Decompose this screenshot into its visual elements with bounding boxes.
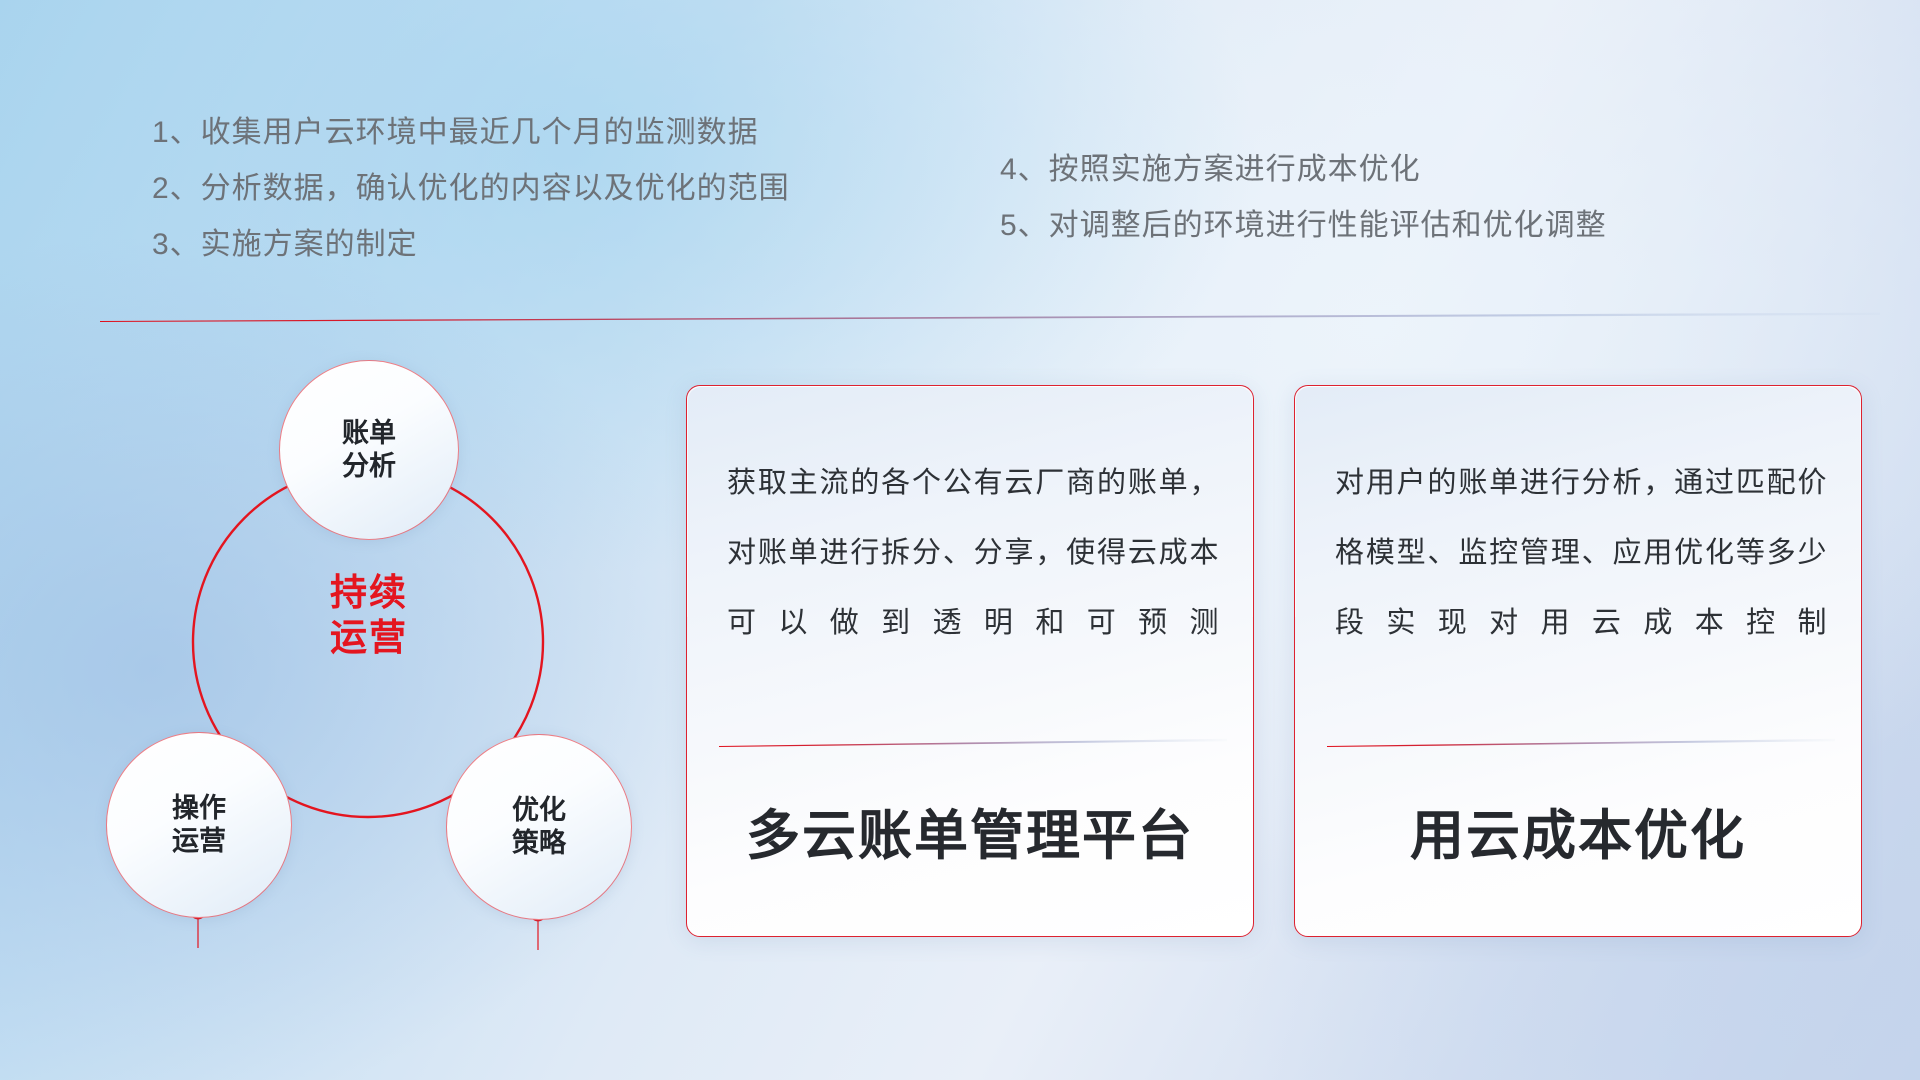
steps-right-column: 4、按照实施方案进行成本优化 5、对调整后的环境进行性能评估和优化调整: [1000, 155, 1607, 241]
card-1-rule: [719, 738, 1225, 747]
step-item-1: 1、收集用户云环境中最近几个月的监测数据: [152, 118, 790, 148]
diagram-node-optimization-strategy-line2: 策略: [512, 827, 566, 860]
card-2-title: 用云成本优化: [1295, 791, 1861, 870]
diagram-node-optimization-strategy[interactable]: 优化 策略: [446, 734, 632, 920]
diagram-node-operations-line1: 操作: [172, 792, 226, 825]
card-1-body: 获取主流的各个公有云厂商的账单，对账单进行拆分、分享，使得云成本可以做到透明和可…: [727, 448, 1219, 659]
diagram-node-operations-line2: 运营: [172, 825, 226, 858]
step-item-4: 4、按照实施方案进行成本优化: [1000, 155, 1607, 185]
slide-canvas: 1、收集用户云环境中最近几个月的监测数据 2、分析数据，确认优化的内容以及优化的…: [0, 0, 1920, 1080]
diagram-center-line2: 运营: [279, 615, 459, 660]
continuous-operation-diagram: 账单 分析 操作 运营 优化 策略 持续 运营: [96, 352, 656, 952]
card-1-title: 多云账单管理平台: [687, 791, 1253, 870]
card-2-rule: [1327, 738, 1833, 747]
step-item-2: 2、分析数据，确认优化的内容以及优化的范围: [152, 174, 790, 204]
section-divider: [100, 312, 1880, 322]
step-item-5: 5、对调整后的环境进行性能评估和优化调整: [1000, 211, 1607, 241]
diagram-center-label: 持续 运营: [279, 570, 459, 660]
card-multicloud-billing-platform[interactable]: 获取主流的各个公有云厂商的账单，对账单进行拆分、分享，使得云成本可以做到透明和可…: [686, 385, 1254, 937]
diagram-node-operations[interactable]: 操作 运营: [106, 732, 292, 918]
diagram-node-bill-analysis-line2: 分析: [342, 450, 396, 483]
diagram-node-bill-analysis[interactable]: 账单 分析: [279, 360, 459, 540]
diagram-node-bill-analysis-line1: 账单: [342, 417, 396, 450]
diagram-center-line1: 持续: [279, 570, 459, 615]
card-cloud-cost-optimization[interactable]: 对用户的账单进行分析，通过匹配价格模型、监控管理、应用优化等多少段实现对用云成本…: [1294, 385, 1862, 937]
card-2-body: 对用户的账单进行分析，通过匹配价格模型、监控管理、应用优化等多少段实现对用云成本…: [1335, 448, 1827, 659]
diagram-node-optimization-strategy-line1: 优化: [512, 794, 566, 827]
steps-left-column: 1、收集用户云环境中最近几个月的监测数据 2、分析数据，确认优化的内容以及优化的…: [152, 118, 790, 260]
step-item-3: 3、实施方案的制定: [152, 230, 790, 260]
